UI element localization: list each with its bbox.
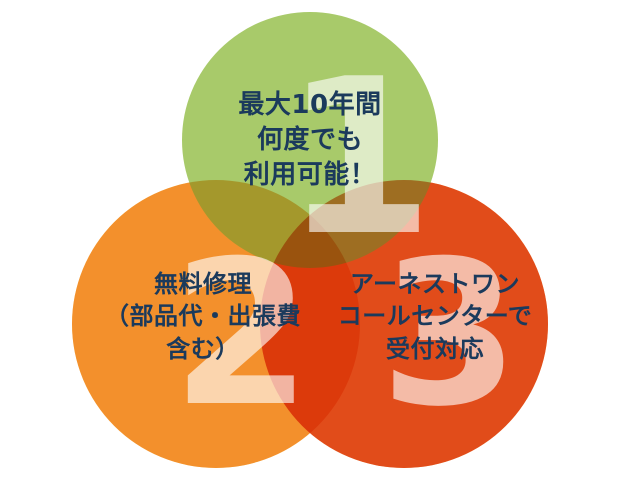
- venn-label-top: 最大10年間 何度でも 利用可能！: [182, 88, 438, 193]
- venn-diagram: 1 2 3 最大10年間 何度でも 利用可能！ 無料修理 （部品代・出張費 含む…: [0, 0, 620, 495]
- venn-label-left: 無料修理 （部品代・出張費 含む）: [78, 268, 328, 365]
- venn-label-right: アーネストワン コールセンターで 受付対応: [310, 268, 560, 365]
